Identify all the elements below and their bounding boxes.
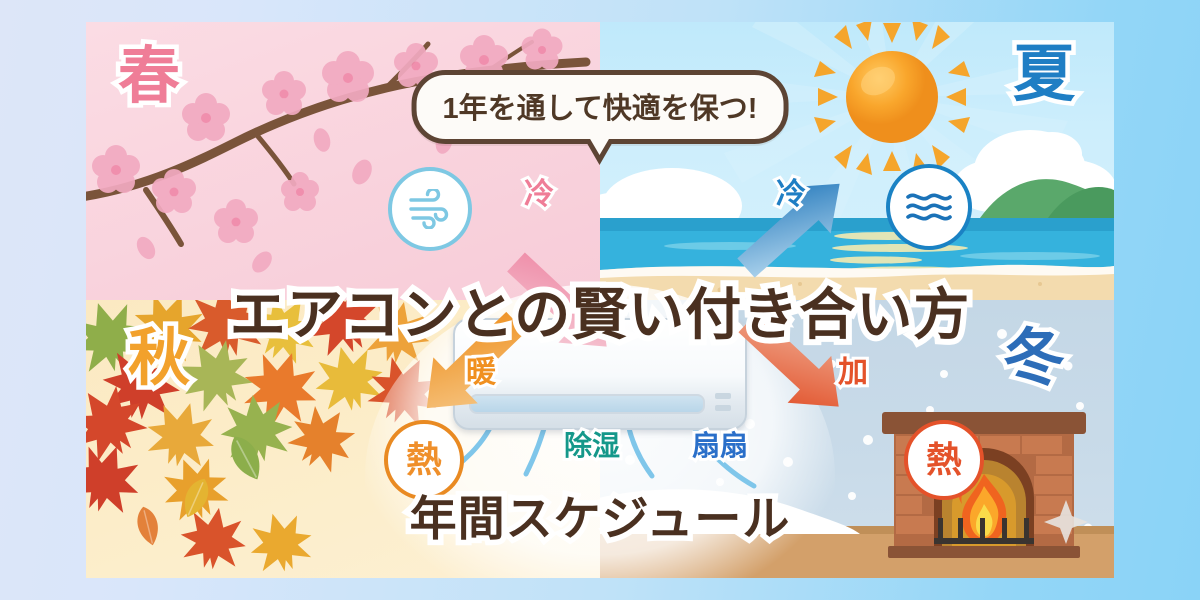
season-label-summer: 夏 [1013,44,1076,106]
waves-icon [905,189,953,225]
ac-vent [469,394,705,414]
mode-circle-spring[interactable] [388,167,472,251]
label-cool-spring: 冷 [524,180,554,210]
wind-icon [407,189,453,229]
label-warm-autumn: 暖 [466,358,496,388]
page-subtitle: 年間スケジュール [86,480,1114,549]
poster-canvas: 春 [0,0,1200,600]
page-title: エアコンとの賢い付き合い方 [86,270,1114,351]
seasons-card: 春 [86,22,1114,578]
season-label-spring: 春 [118,46,181,108]
ac-indicator-light-2 [715,393,731,399]
label-cool-summer: 冷 [776,180,806,210]
heat-kanji-autumn: 熱 [406,442,442,478]
mode-circle-summer[interactable] [886,164,972,250]
heat-kanji-winter: 熱 [926,442,962,478]
speech-bubble: 1年を通して快適を保つ! [412,70,789,144]
quadrant-summer: 夏 [600,22,1114,300]
label-fan: 扇扇 [692,432,748,460]
label-dehumidify: 除湿 [564,432,620,460]
quadrant-spring: 春 [86,22,600,300]
ac-indicator-light [715,405,731,411]
label-add-winter: 加 [838,358,868,388]
speech-bubble-text: 1年を通して快適を保つ! [443,93,758,125]
